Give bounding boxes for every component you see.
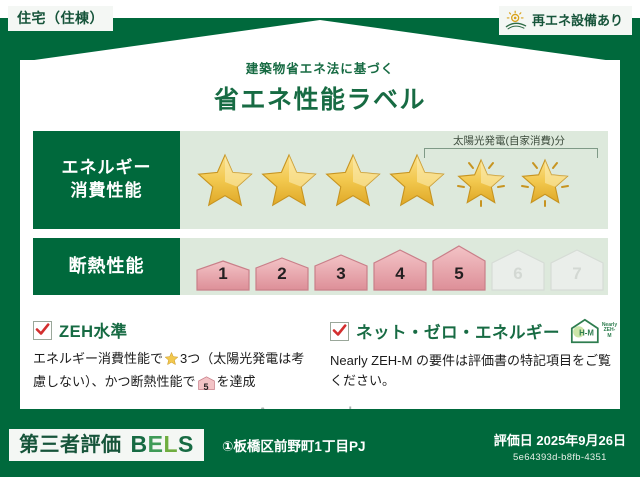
insulation-label: 断熱性能 [69,254,145,278]
label-title: 建築物省エネ法に基づく 省エネ性能ラベル [0,58,640,116]
insulation-level-6: 6 [489,249,547,291]
performance-rows: エネルギー 消費性能 [33,131,608,304]
renewable-equipment-badge: 再エネ設備あり [499,6,632,35]
house-type-tag: 住宅（住棟） [8,6,113,31]
property-address: ①板橋区前野町1丁目PJ [222,435,365,455]
title-subtitle: 建築物省エネ法に基づく [0,58,640,77]
nearly-zehm-caption-line2: ZEH-M [604,327,616,339]
energy-label-line1: エネルギー [62,157,152,180]
insulation-level-3: 3 [312,254,370,291]
checkmark-icon [33,321,52,340]
star-icon [194,149,256,211]
sun-icon [505,10,527,30]
energy-stars-area: 太陽光発電(自家消費)分 [180,131,608,229]
star-icon [386,149,448,211]
criteria-zeh-title: ZEH水準 [59,318,128,342]
star-rating [180,149,576,211]
star-icon [258,149,320,211]
footer-bar: 第三者評価 BELS ①板橋区前野町1丁目PJ 評価日 2025年9月26日 5… [0,409,640,477]
insulation-scale: 1 2 3 4 [180,243,606,291]
evaluation-date-label: 評価日 [494,433,533,448]
bels-letter-s: S [178,431,194,457]
insulation-performance-label-box: 断熱性能 [33,238,180,295]
bels-letter-b: B [131,431,148,457]
evaluation-date: 評価日 2025年9月26日 [494,430,626,449]
star-icon-solar [514,149,576,211]
bels-en-label: BELS [131,433,194,456]
insulation-performance-row: 断熱性能 1 2 3 [33,238,608,295]
title-main: 省エネ性能ラベル [0,80,640,116]
star-icon [164,351,179,372]
solar-bracket [424,148,598,158]
bels-letter-e: E [148,431,164,457]
star-icon [322,149,384,211]
criteria-nze-title: ネット・ゼロ・エネルギー [356,319,560,343]
energy-label-line2: 消費性能 [71,180,143,203]
evaluation-id: 5e64393d-b8fb-4351 [494,452,626,463]
solar-contribution-note: 太陽光発電(自家消費)分 [418,133,600,148]
insulation-scale-area: 1 2 3 4 [180,238,608,295]
criteria-zeh-header: ZEH水準 [33,318,314,342]
energy-performance-label: 住宅（住棟） 再エネ設備あり 建築物省エネ法に基づく 省エネ性能ラベル エネ [0,0,640,477]
energy-performance-label-box: エネルギー 消費性能 [33,131,180,229]
insulation-level-2: 2 [253,257,311,291]
renewable-badge-label: 再エネ設備あり [532,14,623,27]
evaluation-date-value: 2025年9月26日 [536,433,626,448]
insulation-level-5: 5 [430,245,488,291]
insulation-badge-icon: 5 [198,376,215,396]
criteria-zeh-text-3: を達成 [217,374,256,389]
insulation-level-4: 4 [371,249,429,291]
criteria-nze: ネット・ゼロ・エネルギー H-M Nearly ZEH-M Nearly ZEH… [330,318,611,396]
insulation-badge-value: 5 [198,381,215,395]
insulation-level-1: 1 [194,260,252,291]
evaluation-info: 評価日 2025年9月26日 5e64393d-b8fb-4351 [494,430,626,463]
zehm-house-icon: H-M [570,318,600,344]
star-icon-solar [450,149,512,211]
criteria-zeh-body: エネルギー消費性能で3つ（太陽光発電は考慮しない）、かつ断熱性能で5を達成 [33,349,314,396]
checkmark-icon [330,322,349,341]
bels-letter-l: L [163,431,178,457]
insulation-level-7: 7 [548,249,606,291]
bels-jp-label: 第三者評価 [19,435,122,455]
criteria-zeh: ZEH水準 エネルギー消費性能で3つ（太陽光発電は考慮しない）、かつ断熱性能で5… [33,318,314,396]
energy-performance-row: エネルギー 消費性能 [33,131,608,229]
bels-badge: 第三者評価 BELS [9,429,204,461]
criteria-section: ZEH水準 エネルギー消費性能で3つ（太陽光発電は考慮しない）、かつ断熱性能で5… [33,318,611,396]
criteria-zeh-text-1: エネルギー消費性能で [33,351,163,366]
criteria-nze-header: ネット・ゼロ・エネルギー H-M Nearly ZEH-M [330,318,611,344]
nearly-zehm-caption: Nearly ZEH-M [602,323,618,340]
criteria-nze-body: Nearly ZEH-M の要件は評価書の特記項目をご覧ください。 [330,351,611,391]
nearly-zehm-logo: H-M Nearly ZEH-M [570,318,617,344]
svg-text:H-M: H-M [579,328,594,337]
